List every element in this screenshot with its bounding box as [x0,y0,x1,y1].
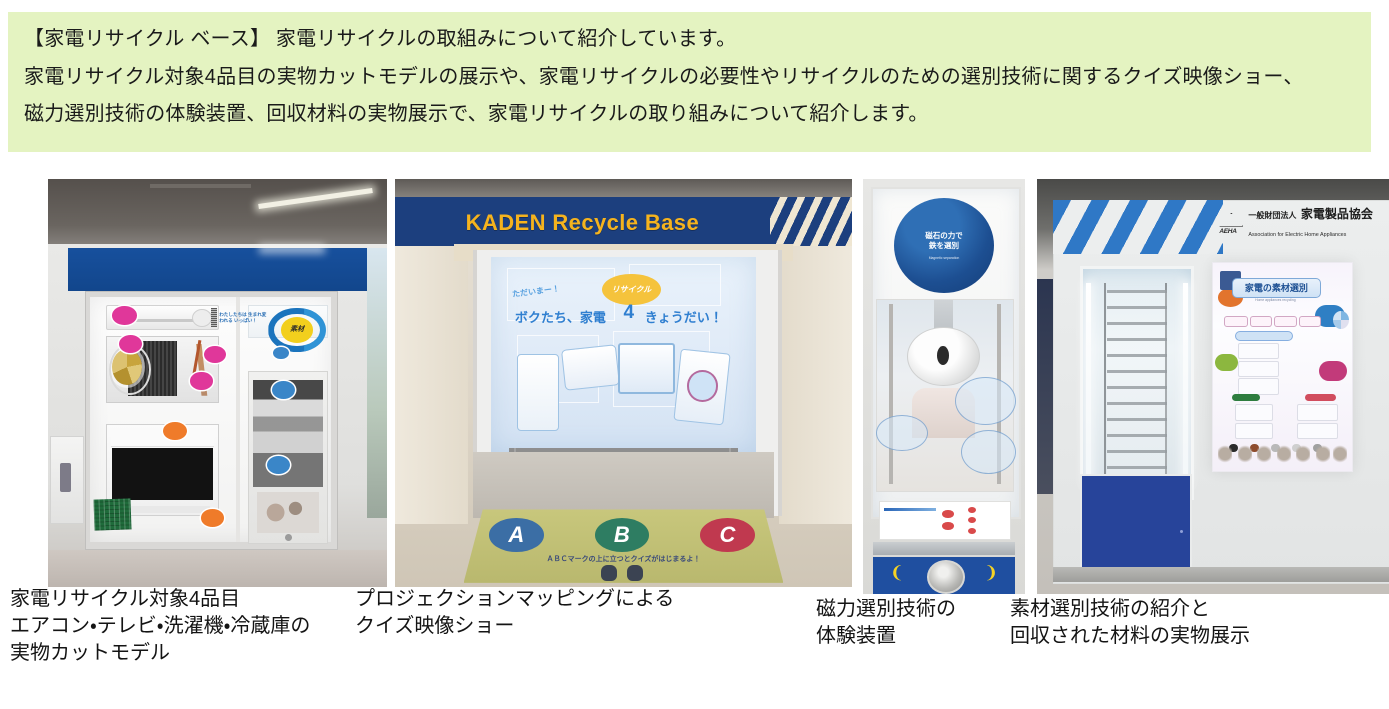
caption-cutaway-models: 家電リサイクル対象4品目 エアコン・テレビ・洗濯機・冷蔵庫の 実物カットモデル [10,586,310,668]
projection-headline-b: きょうだい！ [645,307,723,326]
aeha-mark-text: AEHA [1219,228,1236,235]
pin-label [272,381,295,399]
pin-label [267,456,290,474]
recycle-emblem-icon: 素材 [268,308,326,353]
ceiling-light-icon [258,188,373,209]
magnet-headline-disc: 磁石の力で 鉄を選別 Magnetic separation [894,198,994,293]
material-sample [1277,444,1291,467]
scene-projection: KADEN Recycle Base ただいまー！ [395,179,852,587]
intro-panel: 【家電リサイクル ベース】 家電リサイクルの取組みについて紹介しています。 家電… [8,12,1371,152]
mat-circle-b[interactable]: B [595,518,649,552]
pin-label [112,306,136,325]
page-root: 【家電リサイクル ベース】 家電リサイクルの取組みについて紹介しています。 家電… [0,0,1389,709]
ceiling-strip [395,179,852,199]
diagonal-stripe-graphic [1053,200,1224,254]
caption-material-sorting: 素材選別技術の紹介と 回収された材料の実物展示 [1010,596,1250,650]
material-sample [1333,444,1347,467]
pin-label [204,346,226,363]
kaden-sign-band: KADEN Recycle Base [395,197,852,248]
footprint-icon [627,565,643,581]
callout-bubble [961,430,1016,474]
arrow-left-icon: ❨ [890,564,904,581]
mat-circle-a[interactable]: A [489,518,543,552]
material-sample [1257,444,1271,467]
separation-machine [876,299,1014,492]
cabinet-door[interactable] [1080,474,1193,582]
caption-projection-mapping: プロジェクションマッピングによる クイズ映像ショー [355,586,674,640]
material-vitrine [1080,266,1195,500]
wall-equipment-box [50,436,84,524]
recycle-emblem-caption: わたしたちは 生まれ変われる いっぱい！ [219,312,270,326]
intro-line-2: 家電リサイクル対象4品目の実物カットモデルの展示や、家電リサイクルの必要性やリサ… [24,64,1355,90]
keyhole-icon [1180,530,1183,533]
aeha-jp-large: 家電製品協会 [1301,207,1373,221]
wall-skirting [1053,567,1389,581]
projection-headline-a: ボクたち、家電 [515,307,606,326]
kaden-sign-text: KADEN Recycle Base [395,197,770,248]
aeha-logo: AEHA 一般財団法人 家電製品協会 Association for Elect… [1219,206,1382,239]
material-sample [1238,444,1252,467]
pin-label [163,422,187,440]
ceiling-beam [150,184,252,188]
photo-projection-mapping: KADEN Recycle Base ただいまー！ [395,179,852,587]
metal-sill [873,542,1016,555]
projection-screen: ただいまー！ リサイクル ボクたち、家電 4 きょうだい！ [491,257,756,453]
character-washer-drum-icon [687,370,718,401]
character-refrigerator-icon [517,354,559,430]
mat-circle-c[interactable]: C [700,518,754,552]
projection-headline-number: 4 [623,302,634,324]
circuit-board-sample [93,499,131,531]
doorframe-left [395,246,468,523]
photo-magnetic-separation: 磁石の力で 鉄を選別 Magnetic separation [863,179,1025,594]
recycle-emblem-label: 素材 [290,326,304,333]
callout-bubble [876,415,928,452]
character-television-icon [618,343,675,394]
sample-rack [1107,290,1168,477]
exhibit-blue-banner [68,248,366,291]
scene-magnetic: 磁石の力で 鉄を選別 Magnetic separation [863,179,1025,594]
window-right [367,248,387,517]
photo-cutaway-models: 素材 わたしたちは 生まれ変われる いっぱい！ [48,179,387,587]
material-sample [1218,444,1232,467]
footprint-icon [601,565,617,581]
instruction-panel [879,501,1011,540]
poster-title: 家電の素材選別 [1232,278,1321,299]
photo-material-sorting: AEHA 一般財団法人 家電製品協会 Association for Elect… [1037,179,1389,594]
scene-material-sorting: AEHA 一般財団法人 家電製品協会 Association for Elect… [1037,179,1389,594]
room-floor [473,452,775,517]
vitrine-lamp-icon [1183,283,1188,484]
sign-stripes [770,197,852,248]
poster-subtitle: Home appliances recycling [1243,298,1307,302]
projection-bubble-text: リサイクル [612,284,652,295]
vitrine-lamp-icon [1086,283,1091,484]
intro-line-1: 【家電リサイクル ベース】 家電リサイクルの取組みについて紹介しています。 [24,26,1355,52]
doorframe-right [779,246,852,523]
photo-strip: 素材 わたしたちは 生まれ変われる いっぱい！ [0,163,1389,575]
callout-bubble [955,377,1015,425]
aeha-jp-small: 一般財団法人 [1248,211,1296,220]
arrow-right-icon: ❩ [984,564,998,581]
sorting-poster: 家電の素材選別 Home appliances recycling [1212,262,1354,472]
pin-label [119,335,142,353]
disc-line-2: 鉄を選別 [929,241,959,250]
aeha-mark-icon: AEHA [1219,213,1243,233]
aeha-en: Association for Electric Home Appliances [1248,232,1346,238]
character-aircon-icon [561,344,620,391]
floor [48,550,387,587]
disc-line-1: 磁石の力で [925,231,963,240]
mat-caption: ＡＢＣマークの上に立つとクイズがはじまるよ！ [489,555,758,565]
caption-row: 家電リサイクル対象4品目 エアコン・テレビ・洗濯機・冷蔵庫の 実物カットモデル … [0,586,1389,709]
material-sample [1316,444,1330,467]
intro-line-3: 磁力選別技術の体験装置、回収材料の実物展示で、家電リサイクルの取り組みについて紹… [24,101,1355,127]
caption-magnetic-separation: 磁力選別技術の 体験装置 [816,596,956,650]
scene-cutaway: 素材 わたしたちは 生まれ変われる いっぱい！ [48,179,387,587]
abc-floor-mat: A B C ＡＢＣマークの上に立つとクイズがはじまるよ！ [464,509,784,582]
material-sample [1296,444,1310,467]
case-divider [236,297,240,542]
disc-english-label: Magnetic separation [929,256,960,260]
pin-label [190,372,212,390]
